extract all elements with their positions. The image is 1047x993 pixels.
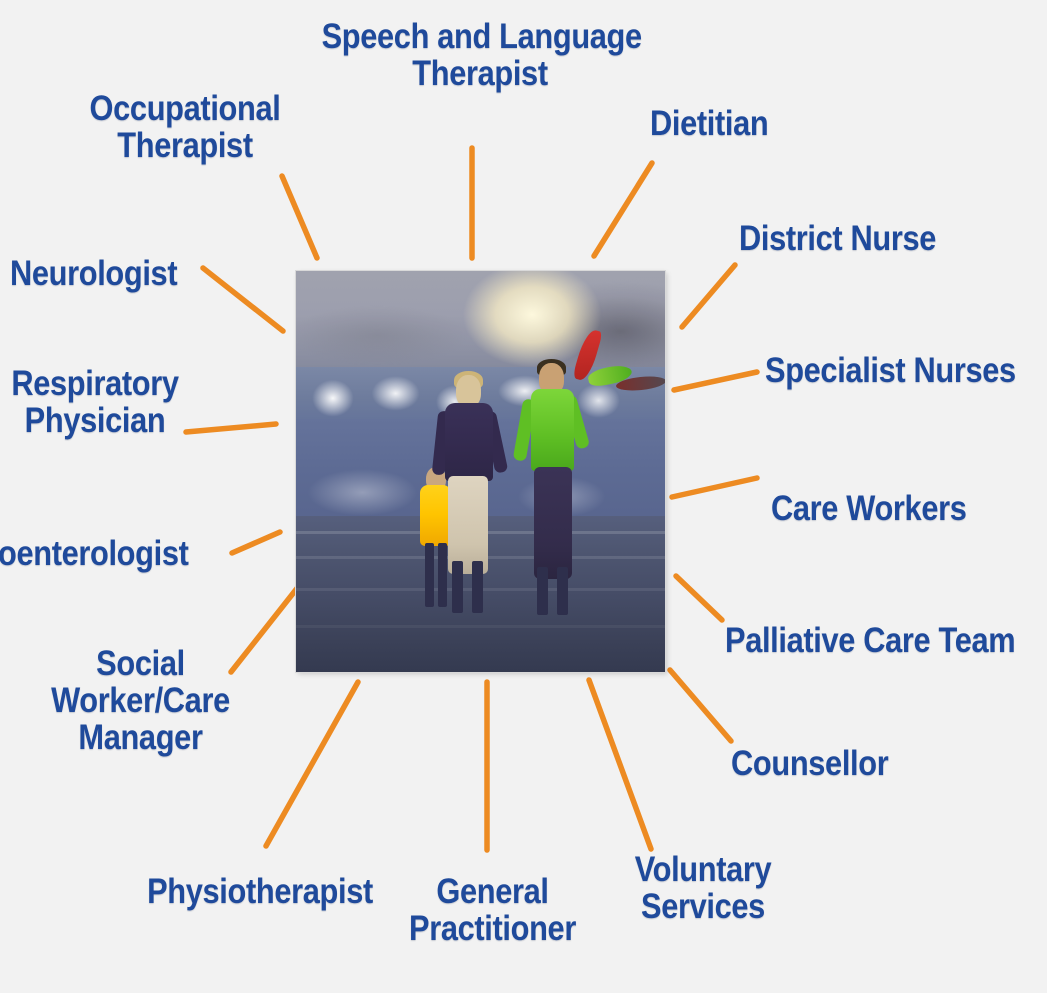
label-palliative-care-team: Palliative Care Team [725,622,1024,659]
connector-palliative-care-team [676,576,722,620]
photo-sky-band [296,271,665,375]
label-respiratory-physician: Respiratory Physician [0,365,196,439]
teen-trousers [534,467,572,579]
label-general-practitioner: General Practitioner [398,873,587,947]
adult-leg-right [472,561,483,613]
label-care-workers: Care Workers [771,490,1035,527]
child-yellow-vest [420,485,451,546]
label-social-worker-care-manager: Social Worker/Care Manager [42,645,240,756]
adult-trousers [448,476,488,574]
connector-voluntary-services [589,680,651,849]
label-speech-and-language-therapist: Speech and Language Therapist [322,18,639,92]
connector-care-workers [672,478,757,497]
label-neurologist: Neurologist [10,255,230,292]
label-voluntary-services: Voluntary Services [615,851,791,925]
connector-respiratory-physician [186,424,276,432]
label-district-nurse: District Nurse [739,220,1029,257]
child-leg-right [438,543,447,607]
care-team-diagram: Speech and Language Therapist Occupation… [0,0,1047,993]
teen-green-top [531,389,574,471]
adult-leg-left [452,561,463,613]
label-dietitian: Dietitian [650,105,852,142]
label-counsellor: Counsellor [731,745,977,782]
adult-top [445,403,493,481]
child-leg-left [425,543,434,607]
connector-specialist-nurses [674,372,757,390]
label-occupational-therapist: Occupational Therapist [71,90,300,164]
connector-dietitian [594,163,652,256]
teen-leg-left [537,567,548,615]
label-gastroenterologist: oenterologist [0,535,244,572]
label-physiotherapist: Physiotherapist [132,873,387,910]
connector-district-nurse [682,265,735,327]
connector-counsellor [670,670,731,741]
center-photo [296,271,665,672]
teen-leg-right [557,567,568,615]
label-specialist-nurses: Specialist Nurses [765,352,1047,389]
connector-social-worker [231,582,302,672]
connector-occupational-therapist [282,176,317,258]
connector-physiotherapist [266,682,358,846]
